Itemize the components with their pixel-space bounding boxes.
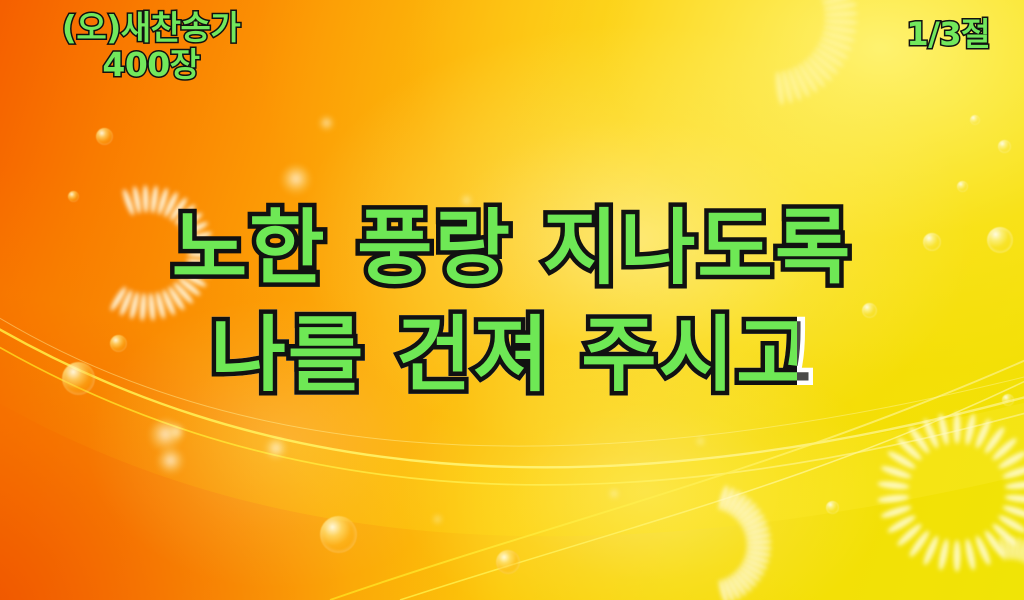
lyric-line-2-wipe: 나를 건져 주시고 나를 건져 주시고: [210, 303, 813, 410]
verse-indicator: 1/3절: [906, 17, 990, 53]
lyric-line-2: 나를 건져 주시고 나를 건져 주시고: [0, 303, 1024, 410]
hymn-number: 400장: [26, 47, 276, 84]
lyrics-block: 노한 풍랑 지나도록 나를 건져 주시고 나를 건져 주시고: [0, 196, 1024, 409]
hymn-slide: (오)새찬송가 400장 1/3절 노한 풍랑 지나도록 나를 건져 주시고 나…: [0, 0, 1024, 600]
lyric-line-1: 노한 풍랑 지나도록: [0, 196, 1024, 303]
hymn-book-label: (오)새찬송가 400장: [26, 10, 276, 84]
lyric-line-2-sung-overlay: 나를 건져 주시고: [210, 303, 796, 410]
hymn-book-name: (오)새찬송가: [26, 10, 276, 47]
